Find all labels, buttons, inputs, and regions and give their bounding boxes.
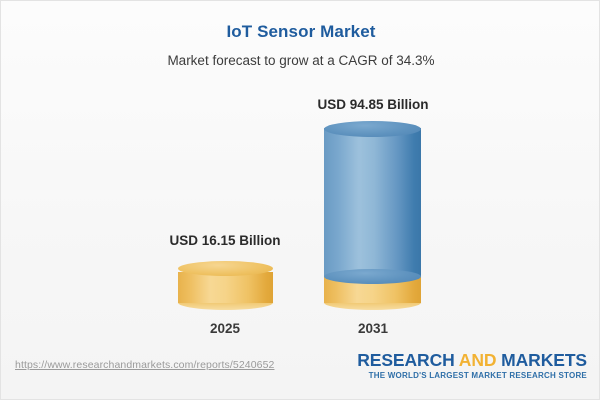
chart-footer: https://www.researchandmarkets.com/repor… [1, 347, 600, 399]
cylinder-top-2025 [178, 261, 273, 276]
logo-word-research: RESEARCH [357, 350, 454, 370]
cylinder-body-2025 [178, 272, 273, 303]
cylinder-top-2031 [324, 121, 421, 137]
research-and-markets-logo[interactable]: RESEARCH AND MARKETS THE WORLD'S LARGEST… [357, 350, 587, 380]
logo-tagline: THE WORLD'S LARGEST MARKET RESEARCH STOR… [357, 371, 587, 380]
cylinder-blue-seam-2031 [324, 269, 421, 284]
chart-card: IoT Sensor Market Market forecast to gro… [0, 0, 600, 400]
bar-cylinder-2025[interactable] [178, 261, 273, 303]
bar-cylinder-2031[interactable] [324, 121, 421, 303]
category-label-2031: 2031 [273, 321, 473, 336]
source-url-link[interactable]: https://www.researchandmarkets.com/repor… [15, 359, 274, 371]
value-label-2031: USD 94.85 Billion [273, 97, 473, 112]
bar-group-2031[interactable]: USD 94.85 Billion 2031 [273, 1, 473, 346]
plot-area: USD 16.15 Billion 2025 USD 94.85 Billion [1, 1, 600, 346]
logo-wordmark: RESEARCH AND MARKETS [357, 350, 587, 370]
logo-word-markets: MARKETS [501, 350, 587, 370]
logo-word-and: AND [455, 350, 502, 370]
cylinder-body-2031 [324, 128, 421, 276]
